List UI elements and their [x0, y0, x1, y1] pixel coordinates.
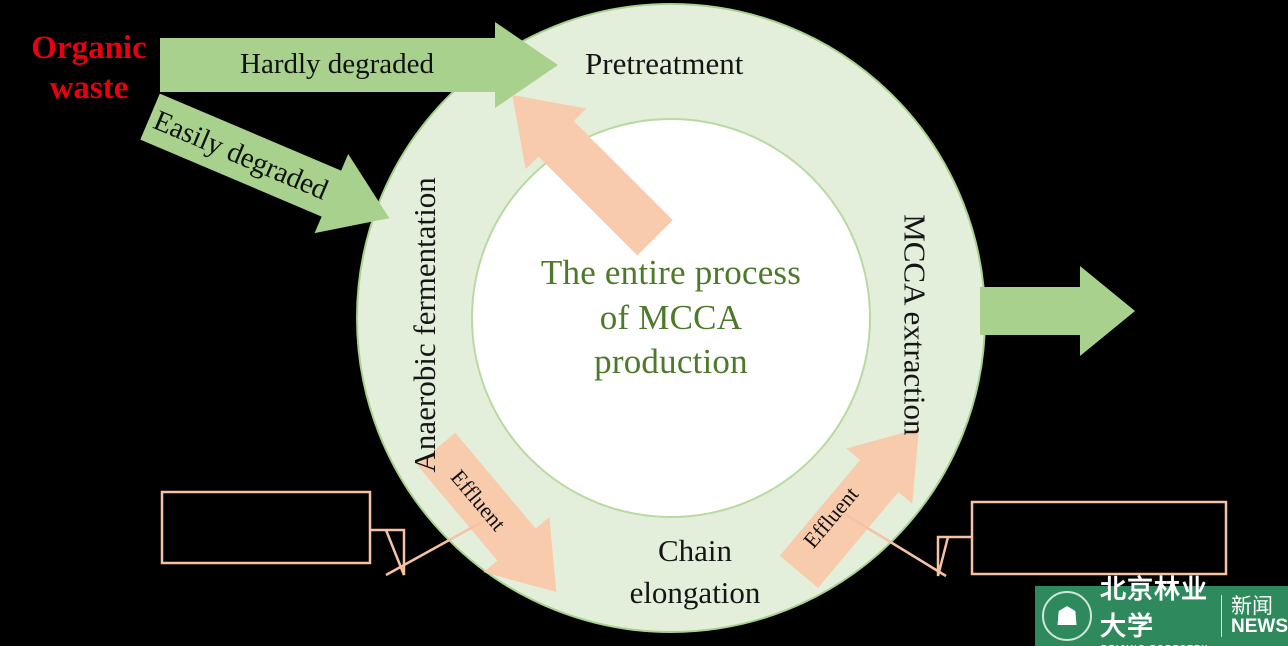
logo-section-cn: 新闻 [1231, 595, 1288, 617]
stage-label-anaerobic-fermentation-text: Anaerobic fermentation [405, 177, 445, 472]
organic-waste-label: Organic waste [14, 28, 164, 109]
logo-name-cn: 北京林业大学 [1100, 569, 1213, 643]
logo-section-en: NEWS [1231, 617, 1288, 637]
organic-waste-line-1: Organic [14, 28, 164, 68]
stage-label-chain-line-2: elongation [610, 572, 780, 614]
university-seal-icon: ☗ [1042, 591, 1092, 641]
stage-label-chain-elongation: Chain elongation [610, 530, 780, 614]
stage-label-anaerobic-fermentation: Anaerobic fermentation [300, 200, 550, 450]
logo-university-name: 北京林业大学 BEIJING FORESTRY UNIVERSITY [1092, 569, 1213, 646]
stage-label-chain-line-1: Chain [610, 530, 780, 572]
callout-leader-right [843, 513, 946, 576]
stage-label-mcca-extraction-text: MCCA extraction [895, 214, 935, 435]
callout-box-left [162, 492, 370, 563]
beijing-forestry-university-news-logo: ☗ 北京林业大学 BEIJING FORESTRY UNIVERSITY 新闻 … [1035, 586, 1288, 646]
logo-section: 新闻 NEWS [1231, 595, 1288, 637]
callout-box-right [972, 502, 1226, 574]
logo-divider [1221, 595, 1222, 637]
diagram-canvas: The entire process of MCCA production [0, 0, 1288, 646]
organic-waste-line-2: waste [14, 68, 164, 108]
seal-tree-glyph: ☗ [1055, 604, 1078, 630]
callout-tail-right [938, 537, 972, 576]
stage-label-pretreatment: Pretreatment [585, 46, 743, 82]
stage-label-mcca-extraction: MCCA extraction [790, 200, 1040, 450]
hardly-degraded-label: Hardly degraded [240, 48, 434, 81]
